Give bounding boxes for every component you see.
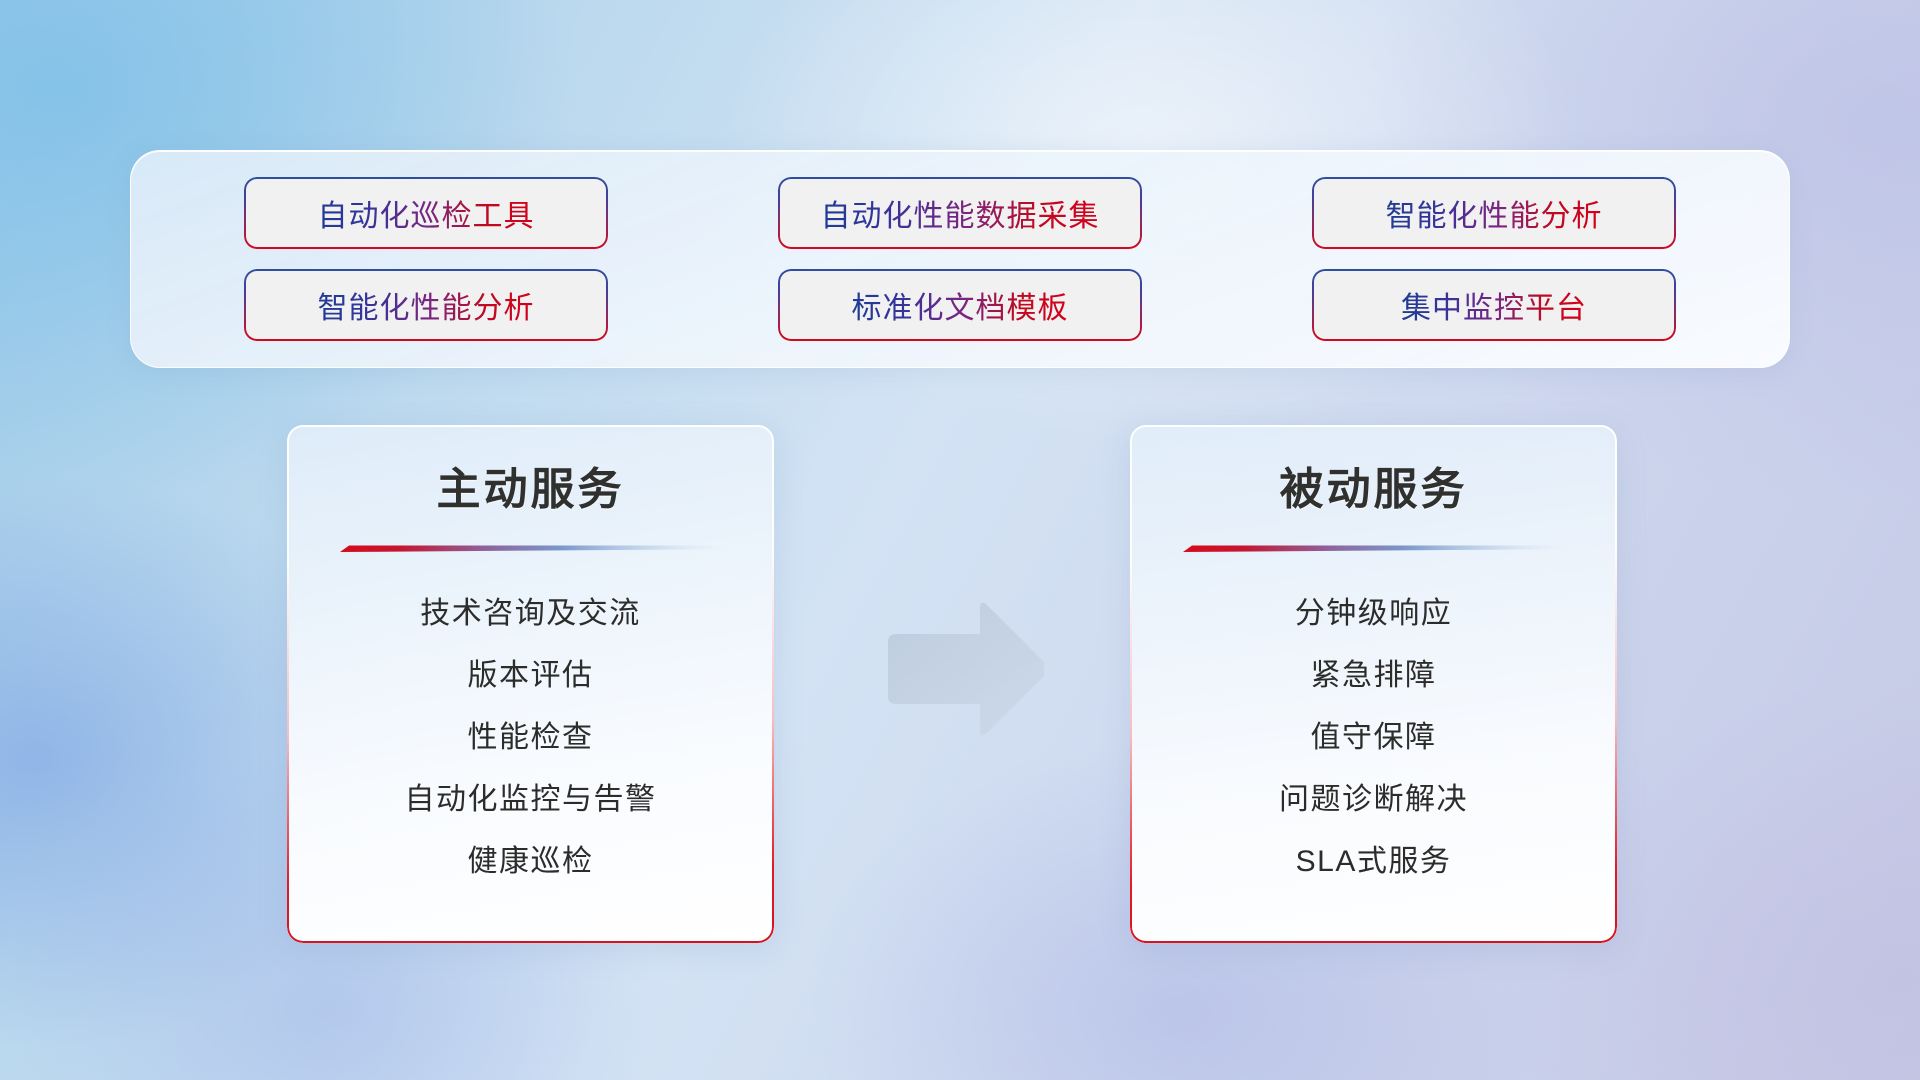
tool-chip-1[interactable]: 自动化巡检工具 [246, 179, 606, 247]
list-item: 分钟级响应 [1295, 583, 1453, 645]
list-item: 技术咨询及交流 [420, 583, 641, 645]
list-item: 问题诊断解决 [1279, 769, 1468, 831]
tool-chip-2[interactable]: 自动化性能数据采集 [780, 179, 1140, 247]
tool-chip-3[interactable]: 智能化性能分析 [1314, 179, 1674, 247]
service-card-proactive[interactable]: 主动服务 技术咨询及交流 版本评估 性能检查 [287, 425, 774, 943]
tools-chip-grid: 自动化巡检工具 自动化性能数据采集 智能化性能分析 智能化性能分析 标准化文档模… [131, 151, 1789, 367]
card-item-list: 分钟级响应 紧急排障 值守保障 问题诊断解决 SLA式服务 [1130, 583, 1617, 893]
service-card-reactive[interactable]: 被动服务 分钟级响应 紧急排障 值守保障 [1130, 425, 1617, 943]
list-item: 自动化监控与告警 [405, 769, 657, 831]
list-item: 紧急排障 [1311, 645, 1437, 707]
tool-chip-label: 智能化性能分析 [318, 283, 535, 327]
tool-chip-4[interactable]: 智能化性能分析 [246, 271, 606, 339]
card-item-list: 技术咨询及交流 版本评估 性能检查 自动化监控与告警 健康巡检 [287, 583, 774, 893]
arrow-right-icon [880, 600, 1044, 748]
tool-chip-label: 自动化巡检工具 [318, 191, 535, 235]
list-item: SLA式服务 [1296, 831, 1452, 893]
card-title: 主动服务 [437, 453, 625, 517]
divider-gradient-bar [340, 543, 721, 553]
flow-arrow-right-icon [880, 600, 1044, 748]
list-item: 版本评估 [468, 645, 594, 707]
tool-chip-5[interactable]: 标准化文档模板 [780, 271, 1140, 339]
divider-gradient-bar [1183, 543, 1564, 553]
card-divider [340, 543, 721, 553]
card-divider [1183, 543, 1564, 553]
card-title: 被动服务 [1280, 453, 1468, 517]
list-item: 性能检查 [468, 707, 594, 769]
tool-chip-label: 集中监控平台 [1401, 283, 1587, 327]
tools-panel: 自动化巡检工具 自动化性能数据采集 智能化性能分析 智能化性能分析 标准化文档模… [130, 150, 1790, 368]
tool-chip-6[interactable]: 集中监控平台 [1314, 271, 1674, 339]
tool-chip-label: 智能化性能分析 [1386, 191, 1603, 235]
tool-chip-label: 自动化性能数据采集 [821, 191, 1100, 235]
list-item: 值守保障 [1311, 707, 1437, 769]
list-item: 健康巡检 [468, 831, 594, 893]
tool-chip-label: 标准化文档模板 [852, 283, 1069, 327]
